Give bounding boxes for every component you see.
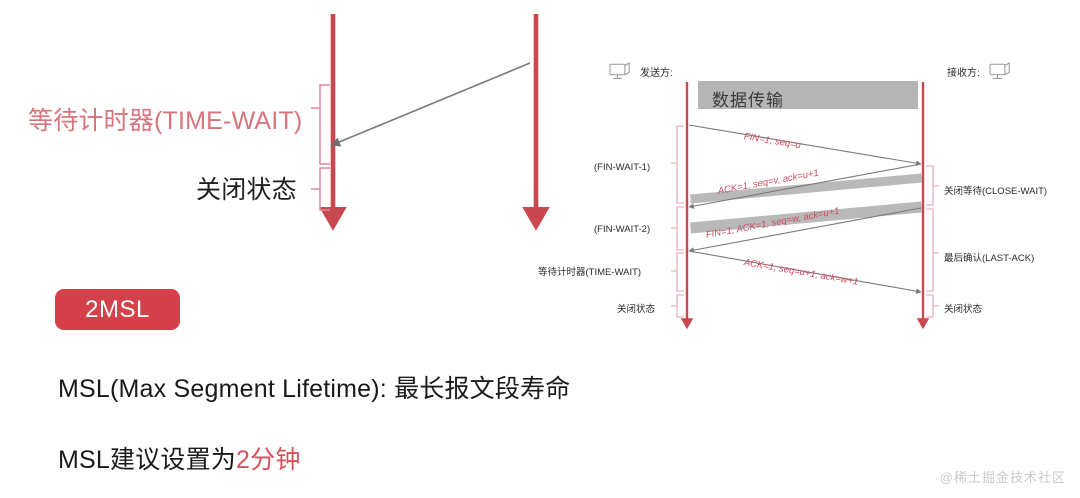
diagram-vectors bbox=[0, 0, 1080, 498]
state-last-ack: 最后确认(LAST-ACK) bbox=[944, 250, 1034, 264]
bracket-finwait1 bbox=[671, 126, 684, 203]
msl-badge: 2MSL bbox=[55, 289, 180, 330]
msl-recommendation-accent: 2分钟 bbox=[236, 446, 301, 474]
left-timewait-bracket bbox=[311, 85, 330, 164]
msg-arrow-fin1 bbox=[689, 125, 921, 164]
state-closed-sender: 关闭状态 bbox=[617, 301, 655, 315]
bracket-finwait2 bbox=[671, 207, 684, 250]
bracket-closed-receiver bbox=[926, 295, 939, 317]
bracket-closed-sender bbox=[671, 295, 684, 317]
left-message-arrow bbox=[332, 63, 530, 145]
receiver-monitor-icon bbox=[990, 63, 1009, 79]
msl-recommendation-prefix: MSL建议设置为 bbox=[58, 446, 236, 474]
bracket-closewait bbox=[926, 166, 939, 205]
data-transfer-label: 数据传输 bbox=[712, 86, 784, 111]
state-fin-wait-2: (FIN-WAIT-2) bbox=[594, 224, 650, 235]
msl-recommendation-text: MSL建议设置为2分钟 bbox=[58, 440, 301, 476]
state-close-wait: 关闭等待(CLOSE-WAIT) bbox=[944, 183, 1047, 197]
bracket-timewait bbox=[671, 253, 684, 291]
left-closed-label: 关闭状态 bbox=[196, 170, 297, 206]
left-diagram-group bbox=[311, 14, 536, 217]
state-closed-receiver: 关闭状态 bbox=[944, 301, 982, 315]
watermark: @稀土掘金技术社区 bbox=[940, 467, 1066, 486]
msl-definition-text: MSL(Max Segment Lifetime): 最长报文段寿命 bbox=[58, 369, 570, 405]
state-fin-wait-1: (FIN-WAIT-1) bbox=[594, 162, 650, 173]
left-closed-bracket bbox=[311, 168, 330, 210]
left-timewait-label: 等待计时器(TIME-WAIT) bbox=[28, 101, 302, 137]
sender-monitor-icon bbox=[610, 63, 629, 79]
receiver-label: 接收方: bbox=[947, 64, 980, 79]
bracket-lastack bbox=[926, 209, 939, 291]
sender-label: 发送方: bbox=[640, 64, 673, 79]
state-time-wait: 等待计时器(TIME-WAIT) bbox=[538, 264, 641, 278]
slide-canvas: 等待计时器(TIME-WAIT) 关闭状态 2MSL MSL(Max Segme… bbox=[0, 0, 1080, 498]
